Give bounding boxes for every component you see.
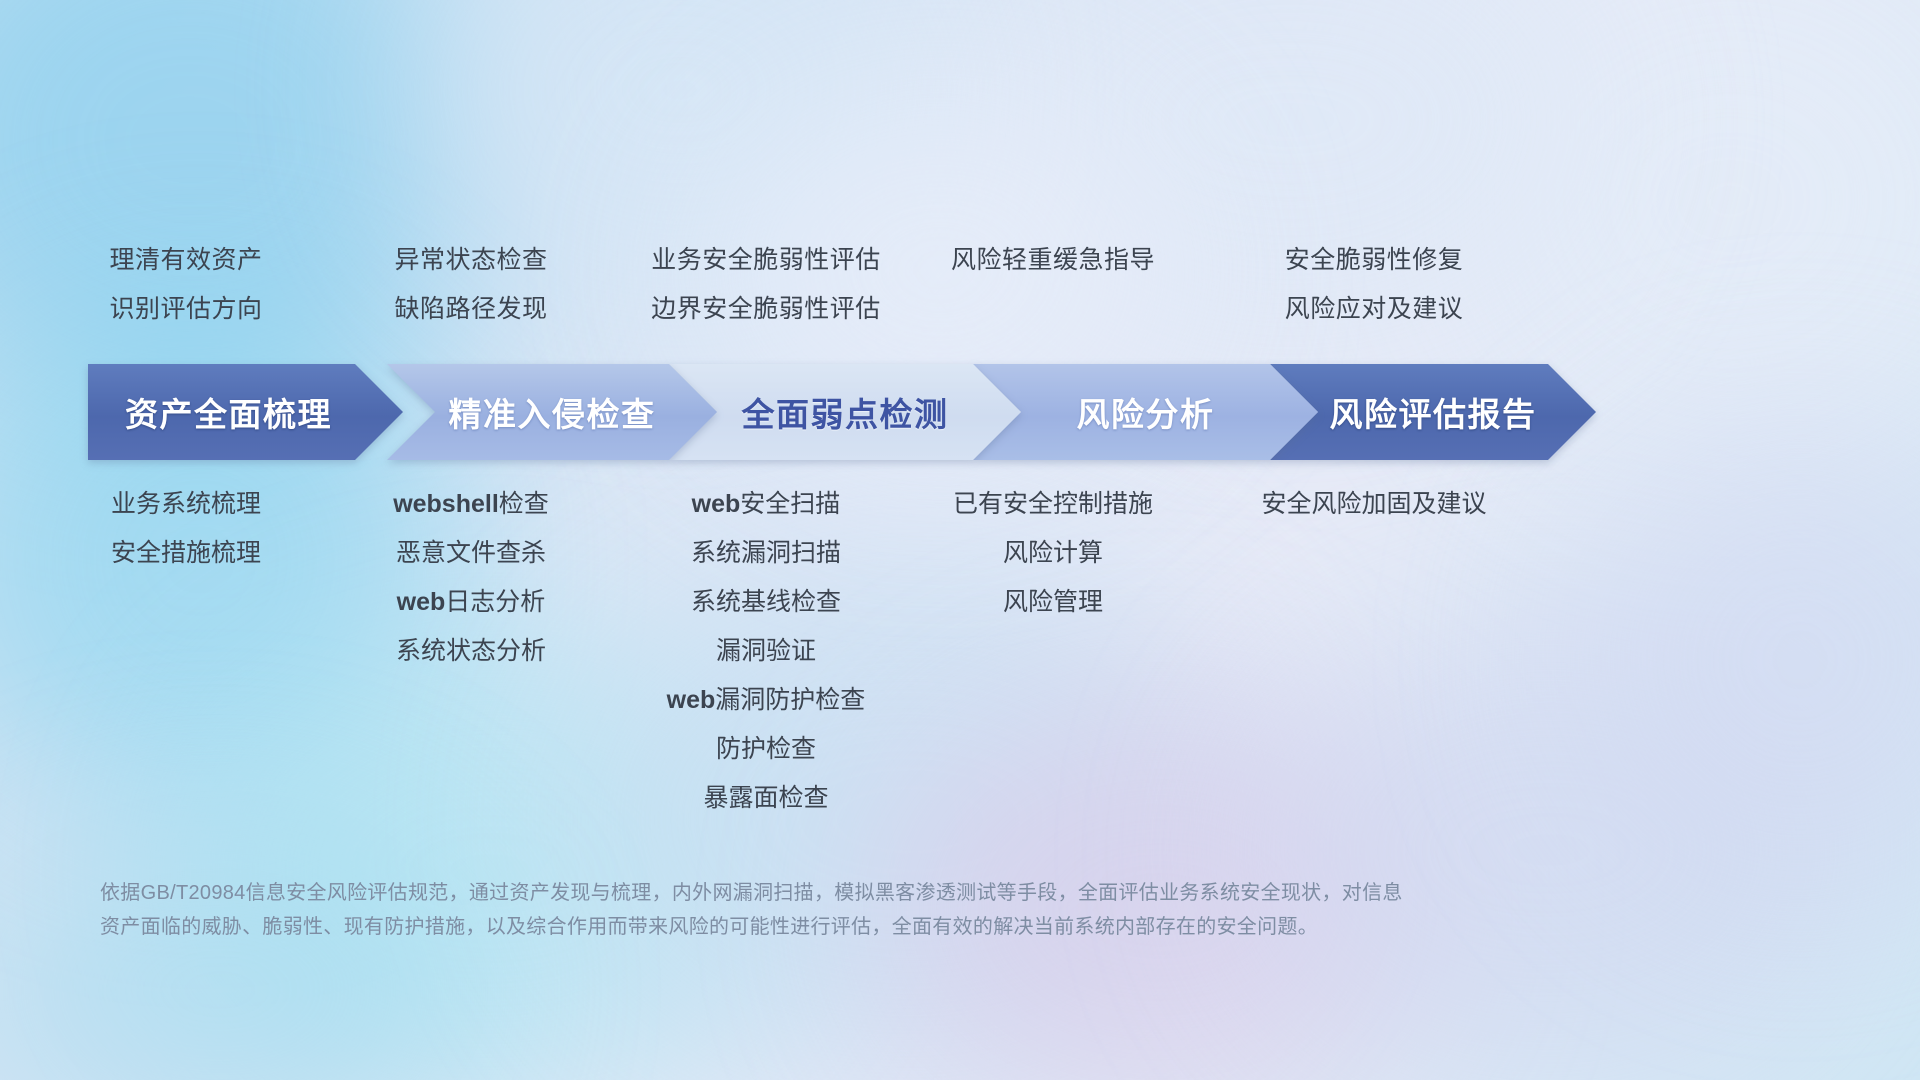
top-note-item: 安全脆弱性修复 [1214, 236, 1534, 285]
bottom-note-text: 恶意文件查杀 [396, 539, 546, 567]
bottom-note-text: 漏洞防护检查 [715, 686, 865, 714]
bottom-note-item: 系统基线检查 [596, 578, 936, 627]
bottom-note-text: 安全措施梳理 [111, 539, 261, 567]
bottom-note-text: 业务系统梳理 [111, 490, 261, 518]
footer-line-2: 资产面临的威胁、脆弱性、现有防护措施，以及综合作用而带来风险的可能性进行评估，全… [100, 910, 1840, 944]
stage-chevron-band: 资产全面梳理精准入侵检查全面弱点检测风险分析风险评估报告 [88, 364, 1854, 460]
stage-label: 全面弱点检测 [669, 388, 1021, 436]
bottom-note-item: 业务系统梳理 [36, 480, 336, 529]
top-note-item: 识别评估方向 [36, 285, 336, 334]
bottom-note-text: 检查 [499, 490, 549, 518]
bottom-notes-column: web安全扫描系统漏洞扫描系统基线检查漏洞验证web漏洞防护检查防护检查暴露面检… [596, 480, 936, 823]
bottom-note-item: 风险计算 [903, 529, 1203, 578]
top-notes-column: 安全脆弱性修复风险应对及建议 [1214, 236, 1534, 334]
bottom-note-item: 风险管理 [903, 578, 1203, 627]
footer-description: 依据GB/T20984信息安全风险评估规范，通过资产发现与梳理，内外网漏洞扫描，… [100, 876, 1840, 944]
bottom-note-text: 系统漏洞扫描 [691, 539, 841, 567]
stage-chevron-5[interactable]: 风险评估报告 [1270, 364, 1596, 460]
bottom-note-text: 风险计算 [1003, 539, 1103, 567]
top-note-item: 业务安全脆弱性评估 [596, 236, 936, 285]
bottom-note-emphasis: web [397, 588, 446, 616]
bottom-note-text: 系统基线检查 [691, 588, 841, 616]
process-diagram: 理清有效资产识别评估方向异常状态检查缺陷路径发现业务安全脆弱性评估边界安全脆弱性… [0, 0, 1920, 1080]
bottom-note-item: 已有安全控制措施 [903, 480, 1203, 529]
footer-line-1: 依据GB/T20984信息安全风险评估规范，通过资产发现与梳理，内外网漏洞扫描，… [100, 876, 1840, 910]
bottom-notes-column: 安全风险加固及建议 [1214, 480, 1534, 529]
top-note-item: 理清有效资产 [36, 236, 336, 285]
top-note-item: 边界安全脆弱性评估 [596, 285, 936, 334]
stage-chevron-4[interactable]: 风险分析 [973, 364, 1318, 460]
bottom-note-emphasis: web [667, 686, 716, 714]
bottom-note-item: 系统漏洞扫描 [596, 529, 936, 578]
bottom-note-emphasis: web [692, 490, 741, 518]
stage-label: 风险评估报告 [1270, 388, 1596, 436]
bottom-note-text: 漏洞验证 [716, 637, 816, 665]
top-note-item: 风险轻重缓急指导 [903, 236, 1203, 285]
top-note-item: 异常状态检查 [321, 236, 621, 285]
bottom-note-item: 安全风险加固及建议 [1214, 480, 1534, 529]
stage-chevron-3[interactable]: 全面弱点检测 [669, 364, 1021, 460]
bottom-note-item: webshell检查 [321, 480, 621, 529]
bottom-note-item: web漏洞防护检查 [596, 676, 936, 725]
top-note-item: 风险应对及建议 [1214, 285, 1534, 334]
bottom-note-item: web安全扫描 [596, 480, 936, 529]
bottom-note-text: 已有安全控制措施 [953, 490, 1153, 518]
bottom-note-item: 防护检查 [596, 725, 936, 774]
bottom-note-item: 漏洞验证 [596, 627, 936, 676]
bottom-notes-column: 已有安全控制措施风险计算风险管理 [903, 480, 1203, 627]
bottom-note-text: 系统状态分析 [396, 637, 546, 665]
bottom-note-text: 日志分析 [445, 588, 545, 616]
top-notes-column: 理清有效资产识别评估方向 [36, 236, 336, 334]
bottom-note-item: 系统状态分析 [321, 627, 621, 676]
bottom-note-text: 安全风险加固及建议 [1261, 490, 1486, 518]
top-notes-column: 风险轻重缓急指导 [903, 236, 1203, 285]
top-notes-column: 业务安全脆弱性评估边界安全脆弱性评估 [596, 236, 936, 334]
bottom-note-item: web日志分析 [321, 578, 621, 627]
bottom-note-item: 安全措施梳理 [36, 529, 336, 578]
top-note-item: 缺陷路径发现 [321, 285, 621, 334]
stage-label: 风险分析 [973, 388, 1318, 436]
bottom-note-text: 安全扫描 [740, 490, 840, 518]
bottom-note-item: 恶意文件查杀 [321, 529, 621, 578]
stage-label: 资产全面梳理 [88, 388, 403, 436]
stage-chevron-2[interactable]: 精准入侵检查 [387, 364, 717, 460]
bottom-note-text: 防护检查 [716, 735, 816, 763]
bottom-note-text: 风险管理 [1003, 588, 1103, 616]
stage-label: 精准入侵检查 [387, 388, 717, 436]
bottom-notes-column: webshell检查恶意文件查杀web日志分析系统状态分析 [321, 480, 621, 676]
top-notes-column: 异常状态检查缺陷路径发现 [321, 236, 621, 334]
stage-chevron-1[interactable]: 资产全面梳理 [88, 364, 403, 460]
top-notes-row: 理清有效资产识别评估方向异常状态检查缺陷路径发现业务安全脆弱性评估边界安全脆弱性… [0, 236, 1920, 366]
bottom-notes-column: 业务系统梳理安全措施梳理 [36, 480, 336, 578]
bottom-note-text: 暴露面检查 [703, 784, 828, 812]
bottom-note-item: 暴露面检查 [596, 774, 936, 823]
bottom-note-emphasis: webshell [393, 490, 499, 518]
